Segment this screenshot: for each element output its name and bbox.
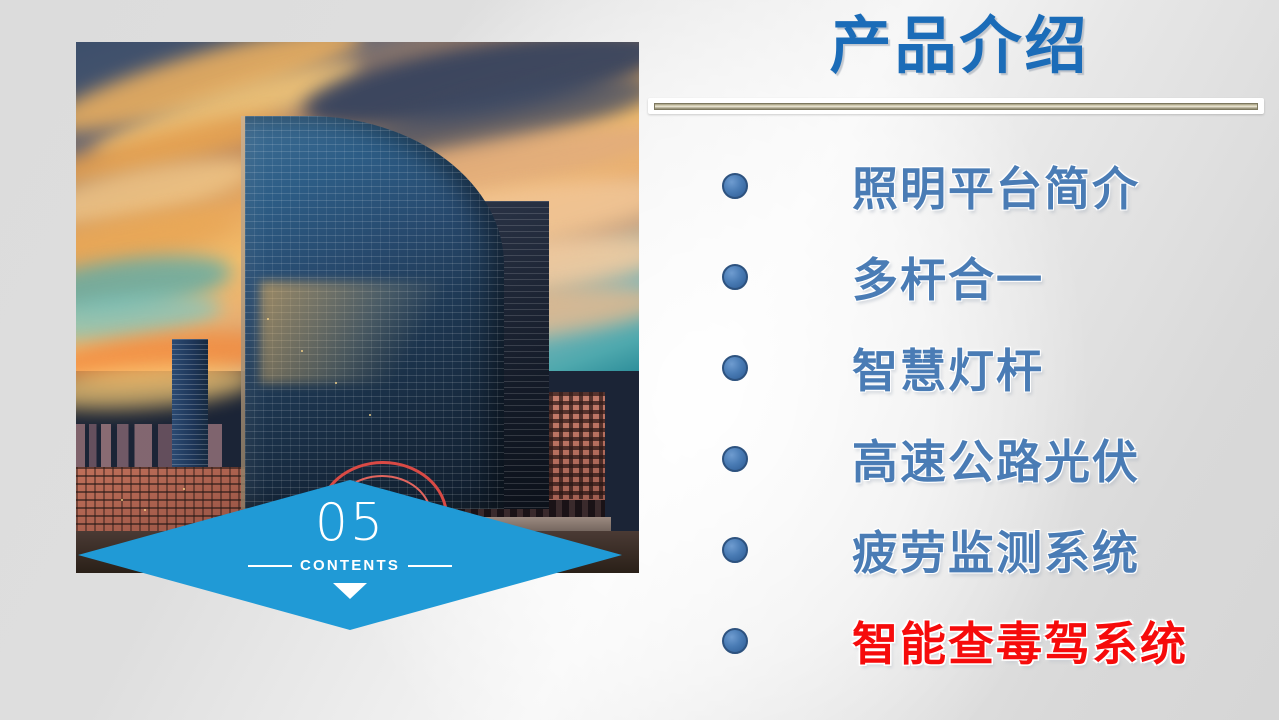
list-item[interactable]: 多杆合一	[660, 231, 1279, 322]
list-item-label: 多杆合一	[852, 244, 1044, 310]
agenda-list: 照明平台简介 多杆合一 智慧灯杆 高速公路光伏 疲劳监测系统 智能查毒驾系统	[660, 140, 1279, 686]
list-item[interactable]: 高速公路光伏	[660, 413, 1279, 504]
list-item[interactable]: 疲劳监测系统	[660, 504, 1279, 595]
triangle-down-icon	[333, 583, 367, 599]
bullet-icon	[722, 355, 748, 381]
list-item-label: 高速公路光伏	[852, 426, 1140, 492]
contents-label: CONTENTS	[300, 557, 400, 574]
bullet-icon	[722, 628, 748, 654]
window-light	[369, 414, 371, 416]
presentation-slide: 05 CONTENTS 产品介绍 照明平台简介 多杆合一 智慧灯杆 高速公路光伏	[0, 0, 1279, 720]
bullet-icon	[722, 173, 748, 199]
list-item[interactable]: 照明平台简介	[660, 140, 1279, 231]
list-item-label: 照明平台简介	[852, 153, 1140, 219]
contents-label-row: CONTENTS	[248, 557, 452, 574]
list-item[interactable]: 智慧灯杆	[660, 322, 1279, 413]
rule-right	[408, 565, 452, 567]
bullet-icon	[722, 446, 748, 472]
contents-badge: 05 CONTENTS	[78, 480, 622, 630]
list-item-label: 智能查毒驾系统	[852, 608, 1188, 674]
page-title: 产品介绍	[640, 4, 1279, 88]
list-item[interactable]: 智能查毒驾系统	[660, 595, 1279, 686]
title-divider-bevel	[654, 103, 1258, 110]
title-divider	[648, 98, 1264, 114]
list-item-label: 疲劳监测系统	[852, 517, 1140, 583]
curved-glass-skyscraper	[245, 116, 504, 509]
section-number: 05	[315, 497, 385, 549]
rule-left	[248, 565, 292, 567]
window-light	[335, 382, 337, 384]
bullet-icon	[722, 264, 748, 290]
list-item-label: 智慧灯杆	[852, 335, 1044, 401]
bullet-icon	[722, 537, 748, 563]
